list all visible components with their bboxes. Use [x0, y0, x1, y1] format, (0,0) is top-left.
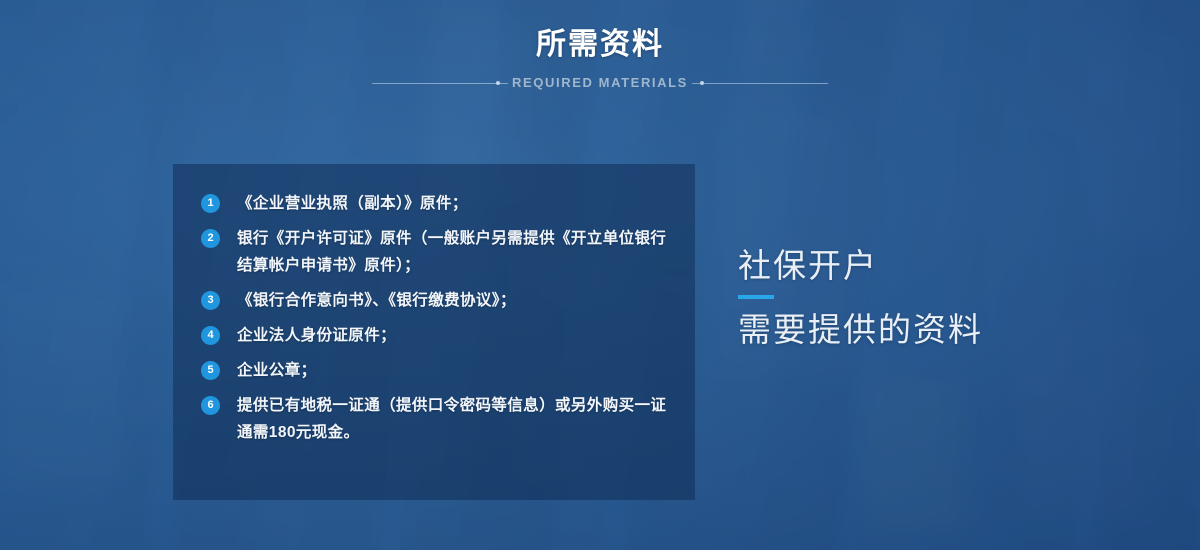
list-item-text: 提供已有地税一证通（提供口令密码等信息）或另外购买一证通需180元现金。 [237, 392, 671, 446]
list-item-number-badge: 2 [201, 229, 220, 248]
page-subtitle: REQUIRED MATERIALS [512, 72, 688, 94]
list-item-number-badge: 1 [201, 194, 220, 213]
list-item-text: 《企业营业执照（副本）》原件； [237, 190, 468, 217]
list-item: 4企业法人身份证原件； [201, 322, 671, 349]
page-title: 所需资料 [0, 26, 1200, 64]
list-item-text: 银行《开户许可证》原件（一般账户另需提供《开立单位银行结算帐户申请书》原件）； [237, 225, 671, 279]
divider-line-right [692, 83, 828, 84]
list-item: 1《企业营业执照（副本）》原件； [201, 190, 671, 217]
list-item-number-badge: 3 [201, 291, 220, 310]
list-item: 2银行《开户许可证》原件（一般账户另需提供《开立单位银行结算帐户申请书》原件）； [201, 225, 671, 279]
list-item-number-badge: 6 [201, 396, 220, 415]
headline-line-2: 需要提供的资料 [738, 308, 1158, 352]
materials-panel: 1《企业营业执照（副本）》原件；2银行《开户许可证》原件（一般账户另需提供《开立… [173, 164, 695, 500]
list-item: 6提供已有地税一证通（提供口令密码等信息）或另外购买一证通需180元现金。 [201, 392, 671, 446]
header: 所需资料 REQUIRED MATERIALS [0, 26, 1200, 94]
list-item: 5企业公章； [201, 357, 671, 384]
headline-accent-bar [738, 295, 774, 299]
divider-line-left [372, 83, 508, 84]
list-item: 3《银行合作意向书》、《银行缴费协议》； [201, 287, 671, 314]
list-item-number-badge: 4 [201, 326, 220, 345]
list-item-text: 《银行合作意向书》、《银行缴费协议》； [237, 287, 516, 314]
divider-dot-left [496, 81, 500, 85]
list-item-text: 企业法人身份证原件； [237, 322, 396, 349]
promo-banner: 所需资料 REQUIRED MATERIALS 1《企业营业执照（副本）》原件；… [0, 0, 1200, 550]
subtitle-row: REQUIRED MATERIALS [0, 72, 1200, 94]
headline-line-1: 社保开户 [738, 244, 1158, 288]
list-item-text: 企业公章； [237, 357, 317, 384]
materials-list: 1《企业营业执照（副本）》原件；2银行《开户许可证》原件（一般账户另需提供《开立… [201, 190, 671, 454]
headline-block: 社保开户 需要提供的资料 [738, 244, 1158, 352]
list-item-number-badge: 5 [201, 361, 220, 380]
